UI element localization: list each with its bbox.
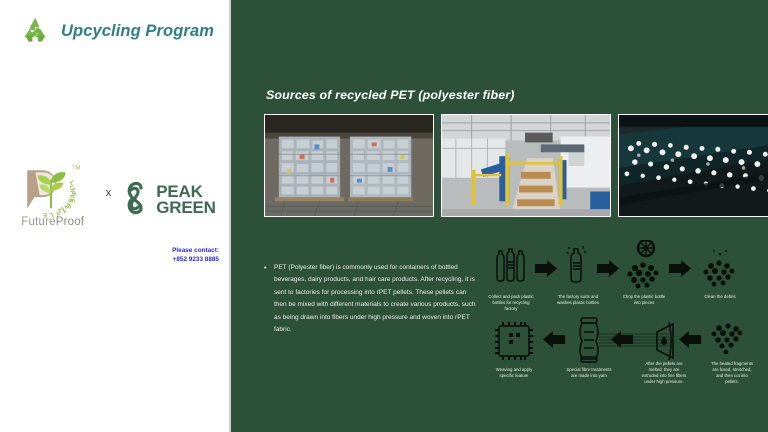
futureproof-wordmark: FutureProof <box>12 216 94 228</box>
svg-text:are fused, stretched,: are fused, stretched, <box>712 367 751 372</box>
photo-baled-plastic-bottles <box>264 114 434 217</box>
content-panel: Sources of recycled PET (polyester fiber… <box>231 0 768 432</box>
photo-plastic-pellets-conveyor <box>618 114 768 217</box>
section-title: Sources of recycled PET (polyester fiber… <box>266 88 515 102</box>
paperclip-loop-icon <box>121 181 151 220</box>
peakgreen-wordmark: PEAK GREEN <box>156 184 215 217</box>
contact-phone[interactable]: +852 9233 8885 <box>0 255 219 264</box>
peakgreen-line-2: GREEN <box>156 200 215 216</box>
futureproof-word-proof: Proof <box>56 216 85 228</box>
contact-block: Please contact: +852 9233 8885 <box>0 246 231 265</box>
left-panel: Upcycling Program LIFESTYLE <box>0 0 231 432</box>
body-bullet-list: PET (Polyester fiber) is commonly used f… <box>262 262 477 337</box>
list-item: PET (Polyester fiber) is commonly used f… <box>262 262 477 337</box>
svg-text:extruded into fine fibers: extruded into fine fibers <box>642 373 687 378</box>
photo-row <box>264 114 768 217</box>
process-diagram: Collect and pack plastic bottles for rec… <box>483 240 768 385</box>
svg-text:under high pressure.: under high pressure. <box>644 379 683 384</box>
logo-separator: x <box>102 187 116 213</box>
svg-text:After the pellets are: After the pellets are <box>645 361 683 366</box>
svg-text:into pieces: into pieces <box>634 300 655 305</box>
body-copy: PET (Polyester fiber) is commonly used f… <box>262 262 477 337</box>
svg-text:Weaving and apply: Weaving and apply <box>496 367 533 372</box>
svg-text:and then cut into: and then cut into <box>716 373 748 378</box>
svg-text:The factory sorts and: The factory sorts and <box>558 294 599 299</box>
svg-text:washes plastic bottles: washes plastic bottles <box>557 300 599 305</box>
slide: Upcycling Program LIFESTYLE <box>0 0 768 432</box>
brand-header: Upcycling Program <box>18 14 214 48</box>
svg-text:Collect and pack plastic: Collect and pack plastic <box>488 294 534 299</box>
partner-logos: LIFESTYLE L I F E S T Y L E <box>0 160 231 240</box>
svg-text:Clean the debris: Clean the debris <box>704 294 735 299</box>
svg-text:bottles for recycling: bottles for recycling <box>492 300 530 305</box>
contact-label: Please contact: <box>0 246 219 255</box>
futureproof-logo: LIFESTYLE L I F E S T Y L E <box>10 160 96 240</box>
svg-text:factory: factory <box>505 306 519 311</box>
svg-text:are made into yarn: are made into yarn <box>571 373 607 378</box>
leaf-shield-icon: LIFESTYLE L I F E S T Y L E <box>20 162 82 218</box>
recycle-icon <box>18 14 52 48</box>
svg-text:E: E <box>68 199 75 204</box>
svg-text:melted, they are: melted, they are <box>649 367 680 372</box>
futureproof-word-future: Future <box>21 216 55 228</box>
svg-text:The heated fragments: The heated fragments <box>711 361 753 366</box>
peakgreen-logo: PEAK GREEN <box>121 174 221 226</box>
svg-text:pellets.: pellets. <box>725 379 739 384</box>
svg-text:Special fibre treatments: Special fibre treatments <box>566 367 611 372</box>
svg-text:Chop the plastic bottle: Chop the plastic bottle <box>623 294 666 299</box>
page-title: Upcycling Program <box>61 22 214 41</box>
photo-recycling-factory-line <box>441 114 611 217</box>
svg-text:TM: TM <box>72 166 80 172</box>
svg-text:specific feature: specific feature <box>500 373 530 378</box>
